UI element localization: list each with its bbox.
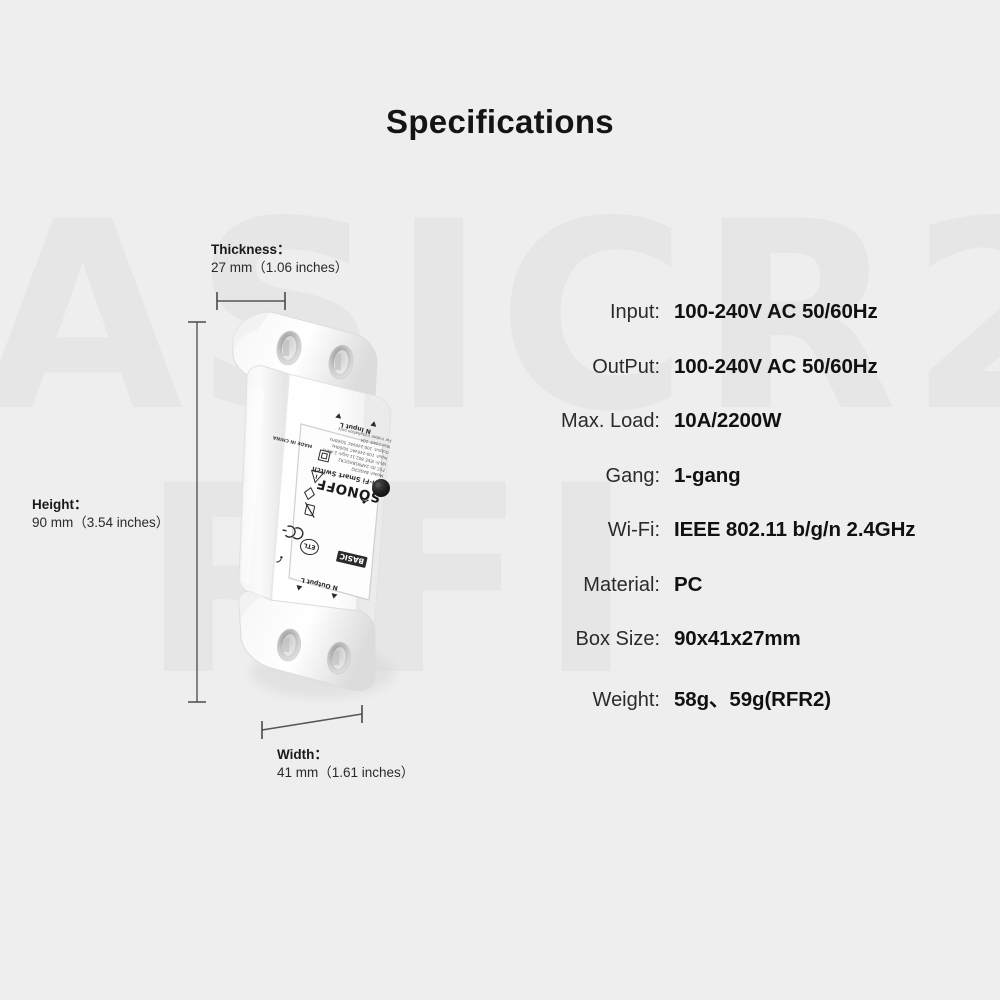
width-label: Width： — [277, 746, 414, 764]
spec-value-output: 100-240V AC 50/60Hz — [674, 355, 878, 379]
spec-row-output: OutPut: 100-240V AC 50/60Hz — [540, 355, 915, 410]
spec-label-gang: Gang: — [540, 465, 660, 488]
height-value: 90 mm（3.54 inches） — [32, 514, 169, 532]
thickness-annotation: Thickness： 27 mm（1.06 inches） — [211, 241, 348, 277]
spec-label-max-load: Max. Load: — [540, 410, 660, 433]
specifications-page: ASICR2 RFI Specifications Thickness： 27 … — [0, 0, 1000, 1000]
spec-label-box-size: Box Size: — [540, 628, 660, 651]
width-value: 41 mm（1.61 inches） — [277, 764, 414, 782]
product-image: N Output L SONOFF BASIC Wi-Fi Smart Swit… — [205, 300, 435, 720]
thickness-label: Thickness： — [211, 241, 348, 259]
spec-label-output: OutPut: — [540, 356, 660, 379]
spec-row-input: Input: 100-240V AC 50/60Hz — [540, 300, 915, 355]
width-dimension-line — [250, 698, 380, 746]
spec-value-wifi: IEEE 802.11 b/g/n 2.4GHz — [674, 518, 915, 542]
sonoff-basic-switch-illustration: N Output L SONOFF BASIC Wi-Fi Smart Swit… — [205, 300, 435, 720]
height-dimension-line — [182, 310, 212, 714]
spec-label-input: Input: — [540, 301, 660, 324]
thickness-dimension-line — [205, 288, 301, 314]
spec-value-max-load: 10A/2200W — [674, 409, 781, 433]
height-annotation: Height： 90 mm（3.54 inches） — [32, 496, 169, 532]
height-label: Height： — [32, 496, 169, 514]
page-title: Specifications — [0, 103, 1000, 141]
thickness-value: 27 mm（1.06 inches） — [211, 259, 348, 277]
spec-value-box-size: 90x41x27mm — [674, 627, 801, 651]
spec-value-material: PC — [674, 573, 702, 597]
spec-row-gang: Gang: 1-gang — [540, 464, 915, 519]
spec-label-weight: Weight: — [540, 689, 660, 712]
width-annotation: Width： 41 mm（1.61 inches） — [277, 746, 414, 782]
spec-row-weight: Weight: 58g、59g(RFR2) — [540, 682, 915, 737]
spec-row-max-load: Max. Load: 10A/2200W — [540, 409, 915, 464]
spec-label-material: Material: — [540, 574, 660, 597]
spec-row-box-size: Box Size: 90x41x27mm — [540, 627, 915, 682]
spec-row-wifi: Wi-Fi: IEEE 802.11 b/g/n 2.4GHz — [540, 518, 915, 573]
spec-row-material: Material: PC — [540, 573, 915, 628]
spec-value-gang: 1-gang — [674, 464, 741, 488]
spec-label-wifi: Wi-Fi: — [540, 519, 660, 542]
pairing-button[interactable] — [372, 479, 390, 497]
spec-value-weight: 58g、59g(RFR2) — [674, 682, 831, 712]
spec-value-input: 100-240V AC 50/60Hz — [674, 300, 878, 324]
specifications-list: Input: 100-240V AC 50/60Hz OutPut: 100-2… — [540, 300, 915, 736]
